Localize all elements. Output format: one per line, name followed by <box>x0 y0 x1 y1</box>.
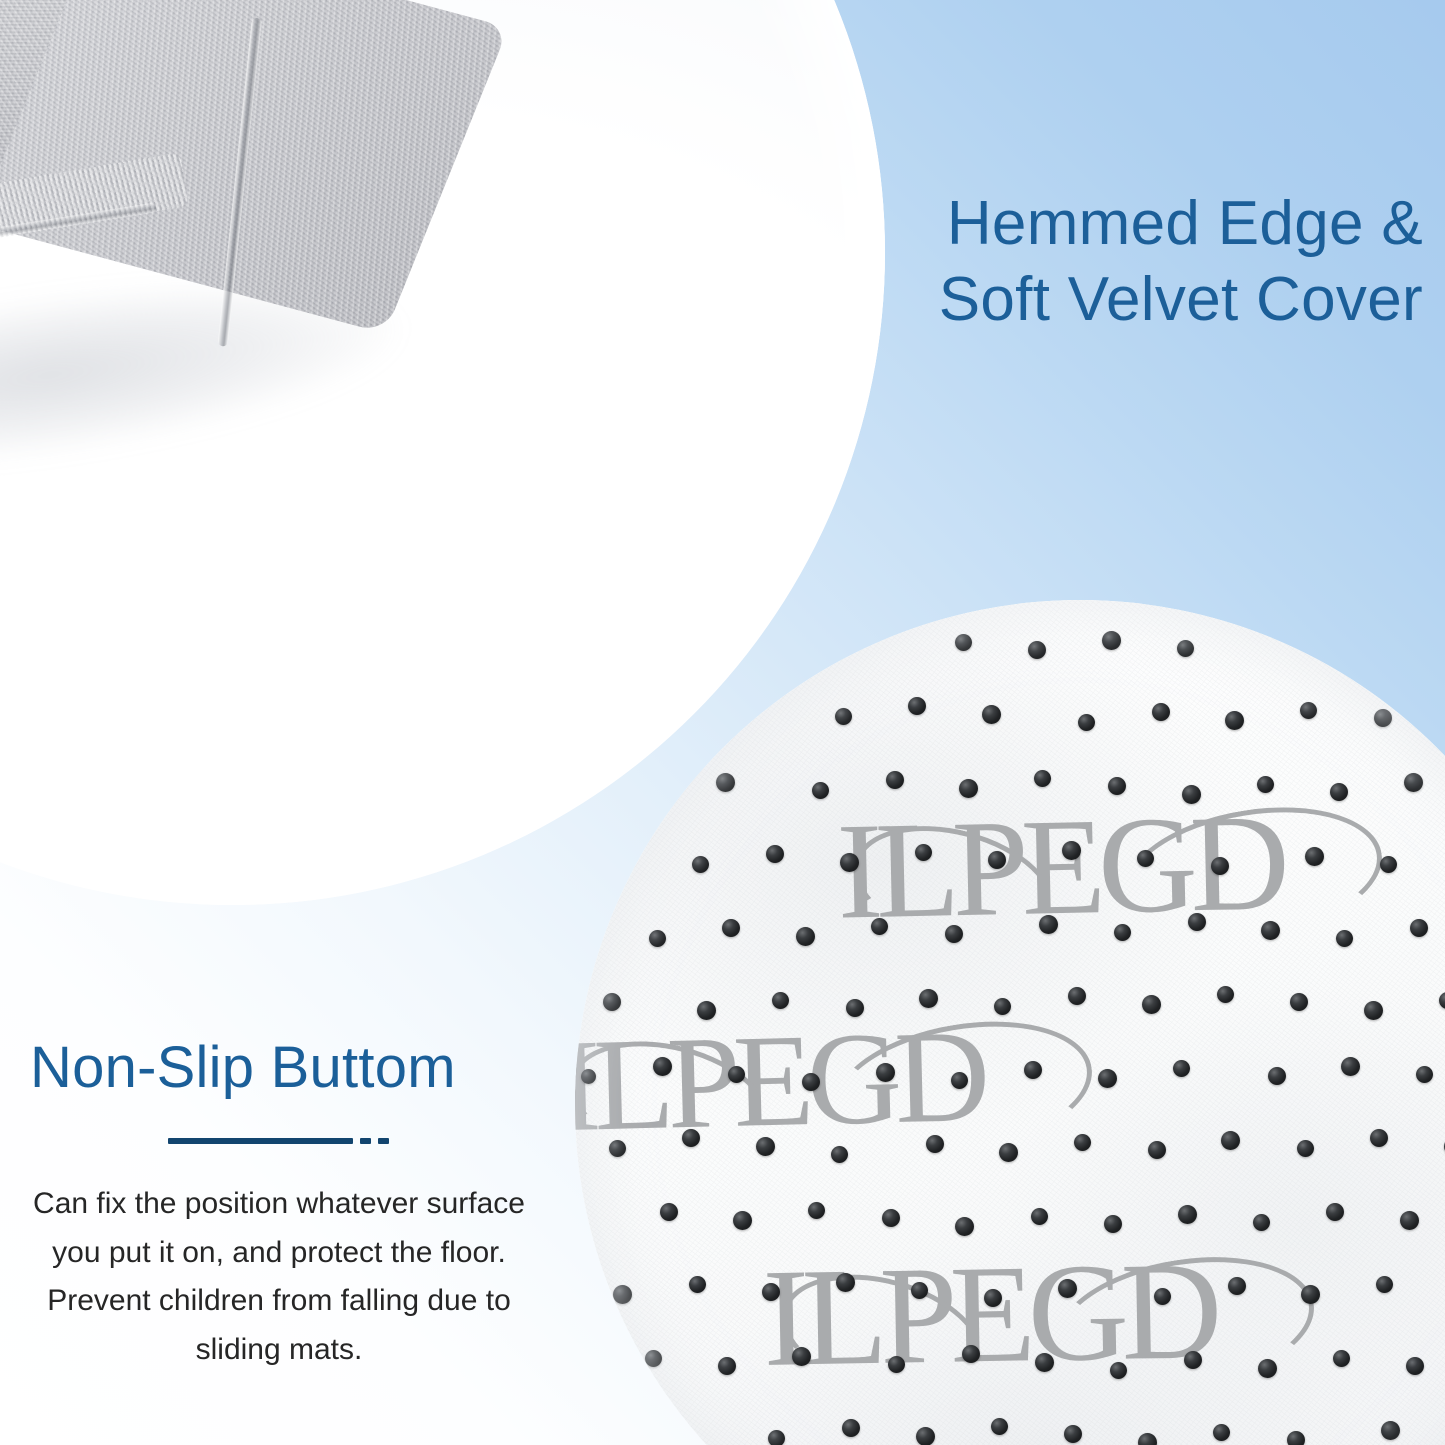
antislip-dot <box>1177 640 1194 657</box>
antislip-dot <box>994 998 1011 1015</box>
antislip-dot <box>1098 1069 1117 1088</box>
antislip-dot <box>1439 992 1445 1009</box>
antislip-dot <box>1104 1215 1122 1233</box>
feature-body-non-slip: Can fix the position whatever surface yo… <box>14 1180 544 1374</box>
feature-heading-non-slip: Non-Slip Buttom <box>30 1036 456 1100</box>
antislip-dot <box>689 1276 706 1293</box>
antislip-dot <box>1173 1060 1190 1077</box>
antislip-dot <box>1034 770 1051 787</box>
antislip-dot <box>999 1143 1018 1162</box>
antislip-dot <box>955 1217 974 1236</box>
antislip-dot <box>1376 1276 1393 1293</box>
antislip-dot <box>1114 924 1131 941</box>
antislip-dot <box>653 1057 672 1076</box>
antislip-dot <box>1078 714 1095 731</box>
antislip-dot <box>871 918 888 935</box>
antislip-dot <box>1300 702 1317 719</box>
antislip-dot <box>792 1347 811 1366</box>
antislip-dot <box>926 1135 944 1153</box>
antislip-dot <box>609 1140 626 1157</box>
antislip-dot <box>1154 1288 1171 1305</box>
antislip-dot <box>1148 1141 1166 1159</box>
antislip-dot <box>1028 641 1046 659</box>
antislip-dot <box>1330 783 1348 801</box>
antislip-dot <box>1024 1061 1042 1079</box>
antislip-dot <box>682 1129 700 1147</box>
antislip-dot <box>836 1273 855 1292</box>
antislip-dot <box>1211 857 1229 875</box>
antislip-dot <box>1333 1350 1350 1367</box>
antislip-dot <box>984 1289 1002 1307</box>
antislip-dot <box>1341 1057 1360 1076</box>
antislip-dot <box>888 1356 905 1373</box>
antislip-dot <box>1035 1353 1054 1372</box>
antislip-dot <box>697 1001 716 1020</box>
antislip-dot <box>768 1430 785 1445</box>
antislip-dot-grid <box>575 600 1445 1445</box>
antislip-dot <box>1374 709 1392 727</box>
antislip-dot <box>1400 1211 1419 1230</box>
antislip-dot <box>955 634 972 651</box>
antislip-dot <box>919 989 938 1008</box>
antislip-dot <box>692 856 709 873</box>
antislip-dot <box>831 1146 848 1163</box>
antislip-dot <box>882 1209 900 1227</box>
divider-dash-2 <box>378 1138 389 1144</box>
antislip-dot <box>835 708 852 725</box>
antislip-dot <box>1370 1129 1388 1147</box>
antislip-dot <box>762 1283 780 1301</box>
antislip-dot <box>951 1072 968 1089</box>
antislip-dot <box>722 919 740 937</box>
antislip-dot <box>718 1357 736 1375</box>
antislip-dot <box>613 1285 632 1304</box>
antislip-dot <box>772 992 789 1009</box>
antislip-dot <box>1301 1285 1320 1304</box>
antislip-dot <box>603 993 621 1011</box>
antislip-dot <box>796 927 815 946</box>
antislip-dot <box>1326 1203 1344 1221</box>
antislip-dot <box>991 1418 1008 1435</box>
antislip-dot <box>1217 986 1234 1003</box>
antislip-dot <box>1110 1362 1127 1379</box>
antislip-dot <box>812 782 829 799</box>
antislip-dot <box>842 1419 860 1437</box>
antislip-dot <box>649 930 666 947</box>
antislip-dot <box>988 851 1006 869</box>
antislip-dot <box>911 1282 928 1299</box>
antislip-dot <box>1102 631 1121 650</box>
antislip-dot <box>1404 773 1423 792</box>
antislip-dot <box>1152 703 1170 721</box>
antislip-dot <box>1062 841 1081 860</box>
antislip-dot <box>716 773 735 792</box>
product-feature-graphic: ILPEGD ILPEGD ILPEGD Hemmed Edge & Soft … <box>0 0 1445 1445</box>
antislip-dot <box>846 999 864 1017</box>
feature-heading-hemmed-edge: Hemmed Edge & Soft Velvet Cover <box>939 186 1423 337</box>
antislip-dot <box>915 844 932 861</box>
antislip-dot <box>876 1063 895 1082</box>
antislip-dot <box>1406 1357 1424 1375</box>
antislip-dot <box>1221 1131 1240 1150</box>
antislip-dot <box>1058 1279 1077 1298</box>
antislip-dot <box>1137 850 1154 867</box>
antislip-dot <box>808 1202 825 1219</box>
heading-divider <box>168 1138 389 1144</box>
antislip-dot <box>766 845 784 863</box>
antislip-dot <box>1225 711 1244 730</box>
nonslip-bottom-photo: ILPEGD ILPEGD ILPEGD <box>575 600 1445 1445</box>
antislip-dot <box>660 1203 678 1221</box>
antislip-dot <box>1287 1431 1305 1445</box>
antislip-dot <box>1184 1351 1202 1369</box>
antislip-dot <box>1213 1424 1230 1441</box>
antislip-dot <box>1290 993 1308 1011</box>
antislip-dot <box>1064 1425 1082 1443</box>
antislip-dot <box>756 1137 775 1156</box>
divider-rule <box>168 1138 353 1144</box>
antislip-dot <box>1188 913 1206 931</box>
antislip-dot <box>1253 1214 1270 1231</box>
antislip-dot <box>1178 1205 1197 1224</box>
divider-dash-1 <box>360 1138 371 1144</box>
antislip-dot <box>1297 1140 1314 1157</box>
antislip-dot <box>1380 856 1397 873</box>
antislip-dot <box>982 705 1001 724</box>
antislip-dot <box>1364 1001 1383 1020</box>
antislip-dot <box>733 1211 752 1230</box>
antislip-dot <box>886 771 904 789</box>
antislip-dot <box>959 779 978 798</box>
antislip-dot <box>1228 1277 1246 1295</box>
antislip-dot <box>1305 847 1324 866</box>
antislip-dot <box>1416 1066 1433 1083</box>
antislip-dot <box>908 697 926 715</box>
antislip-dot <box>1068 987 1086 1005</box>
antislip-dot <box>1410 919 1428 937</box>
antislip-dot <box>1074 1134 1091 1151</box>
antislip-dot <box>1031 1208 1048 1225</box>
antislip-dot <box>1268 1067 1286 1085</box>
antislip-dot <box>945 925 963 943</box>
antislip-dot <box>962 1345 980 1363</box>
antislip-dot <box>1258 1359 1277 1378</box>
antislip-dot <box>1138 1433 1157 1445</box>
antislip-dot <box>1142 995 1161 1014</box>
antislip-dot <box>840 853 859 872</box>
antislip-dot <box>916 1427 935 1445</box>
antislip-dot <box>1257 776 1274 793</box>
antislip-dot <box>581 1069 596 1084</box>
antislip-dot <box>728 1066 745 1083</box>
antislip-dot <box>1182 785 1201 804</box>
antislip-dot <box>645 1350 662 1367</box>
antislip-dot <box>1261 921 1280 940</box>
antislip-dot <box>802 1073 820 1091</box>
antislip-dot <box>1108 777 1126 795</box>
antislip-dot <box>1336 930 1353 947</box>
antislip-dot <box>1381 1421 1400 1440</box>
antislip-dot <box>1039 915 1058 934</box>
